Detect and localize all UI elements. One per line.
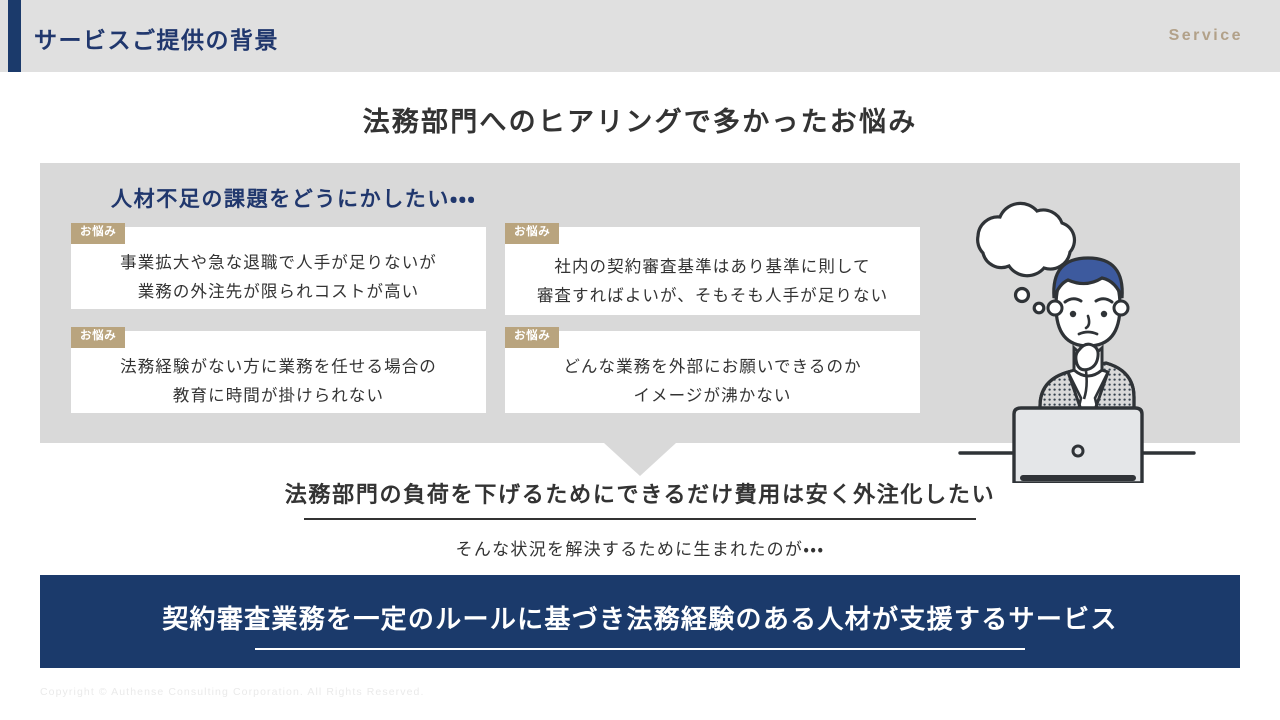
conclusion-sub-text: そんな状況を解決するために生まれたのが・・・ — [0, 535, 1280, 560]
card-text: 法務経験がない方に業務を任せる場合の 教育に時間が掛けられない — [71, 353, 486, 411]
service-banner: 契約審査業務を一定のルールに基づき法務経験のある人材が支援するサービス — [40, 575, 1240, 668]
section-heading: 法務部門へのヒアリングで多かったお悩み — [0, 100, 1280, 139]
card-text-line: 事業拡大や急な退職で人手が足りないが — [71, 249, 486, 278]
conclusion-main-text: 法務部門の負荷を下げるためにできるだけ費用は安く外注化したい — [0, 480, 1280, 510]
card-text: 社内の契約審査基準はあり基準に則して 審査すればよいが、そもそも人手が足りない — [505, 253, 920, 311]
copyright-notice: Copyright © Authense Consulting Corporat… — [40, 686, 425, 698]
card-text: 事業拡大や急な退職で人手が足りないが 業務の外注先が限られコストが高い — [71, 249, 486, 307]
pain-point-card: お悩み 事業拡大や急な退職で人手が足りないが 業務の外注先が限られコストが高い — [71, 227, 486, 309]
card-text-line: 法務経験がない方に業務を任せる場合の — [71, 353, 486, 382]
pain-point-card: お悩み 社内の契約審査基準はあり基準に則して 審査すればよいが、そもそも人手が足… — [505, 227, 920, 315]
header-eyebrow-label: Service — [1169, 27, 1243, 45]
card-text-line: 社内の契約審査基準はあり基準に則して — [505, 253, 920, 282]
pain-point-card: お悩み どんな業務を外部にお願いできるのか イメージが沸かない — [505, 331, 920, 413]
card-text-line: 審査すればよいが、そもそも人手が足りない — [505, 282, 920, 311]
card-text-line: どんな業務を外部にお願いできるのか — [505, 353, 920, 382]
conclusion-block: 法務部門の負荷を下げるためにできるだけ費用は安く外注化したい そんな状況を解決す… — [0, 480, 1280, 560]
service-banner-underline — [255, 648, 1025, 650]
worried-businessman-illustration — [948, 198, 1206, 483]
header-accent-bar — [8, 0, 21, 72]
pain-point-card: お悩み 法務経験がない方に業務を任せる場合の 教育に時間が掛けられない — [71, 331, 486, 413]
downward-arrow-icon — [604, 443, 676, 476]
card-badge: お悩み — [71, 327, 125, 348]
card-badge: お悩み — [505, 223, 559, 244]
hand — [1076, 344, 1098, 370]
service-banner-text: 契約審査業務を一定のルールに基づき法務経験のある人材が支援するサービス — [40, 599, 1240, 636]
card-badge: お悩み — [505, 327, 559, 348]
card-text-line: 業務の外注先が限られコストが高い — [71, 278, 486, 307]
page-title: サービスご提供の背景 — [34, 21, 279, 55]
card-text: どんな業務を外部にお願いできるのか イメージが沸かない — [505, 353, 920, 411]
card-text-line: イメージが沸かない — [505, 382, 920, 411]
card-text-line: 教育に時間が掛けられない — [71, 382, 486, 411]
conclusion-underline — [304, 518, 976, 520]
slide-header: サービスご提供の背景 Service — [0, 0, 1280, 72]
panel-subtitle: 人材不足の課題をどうにかしたい・・・ — [111, 183, 476, 213]
card-badge: お悩み — [71, 223, 125, 244]
